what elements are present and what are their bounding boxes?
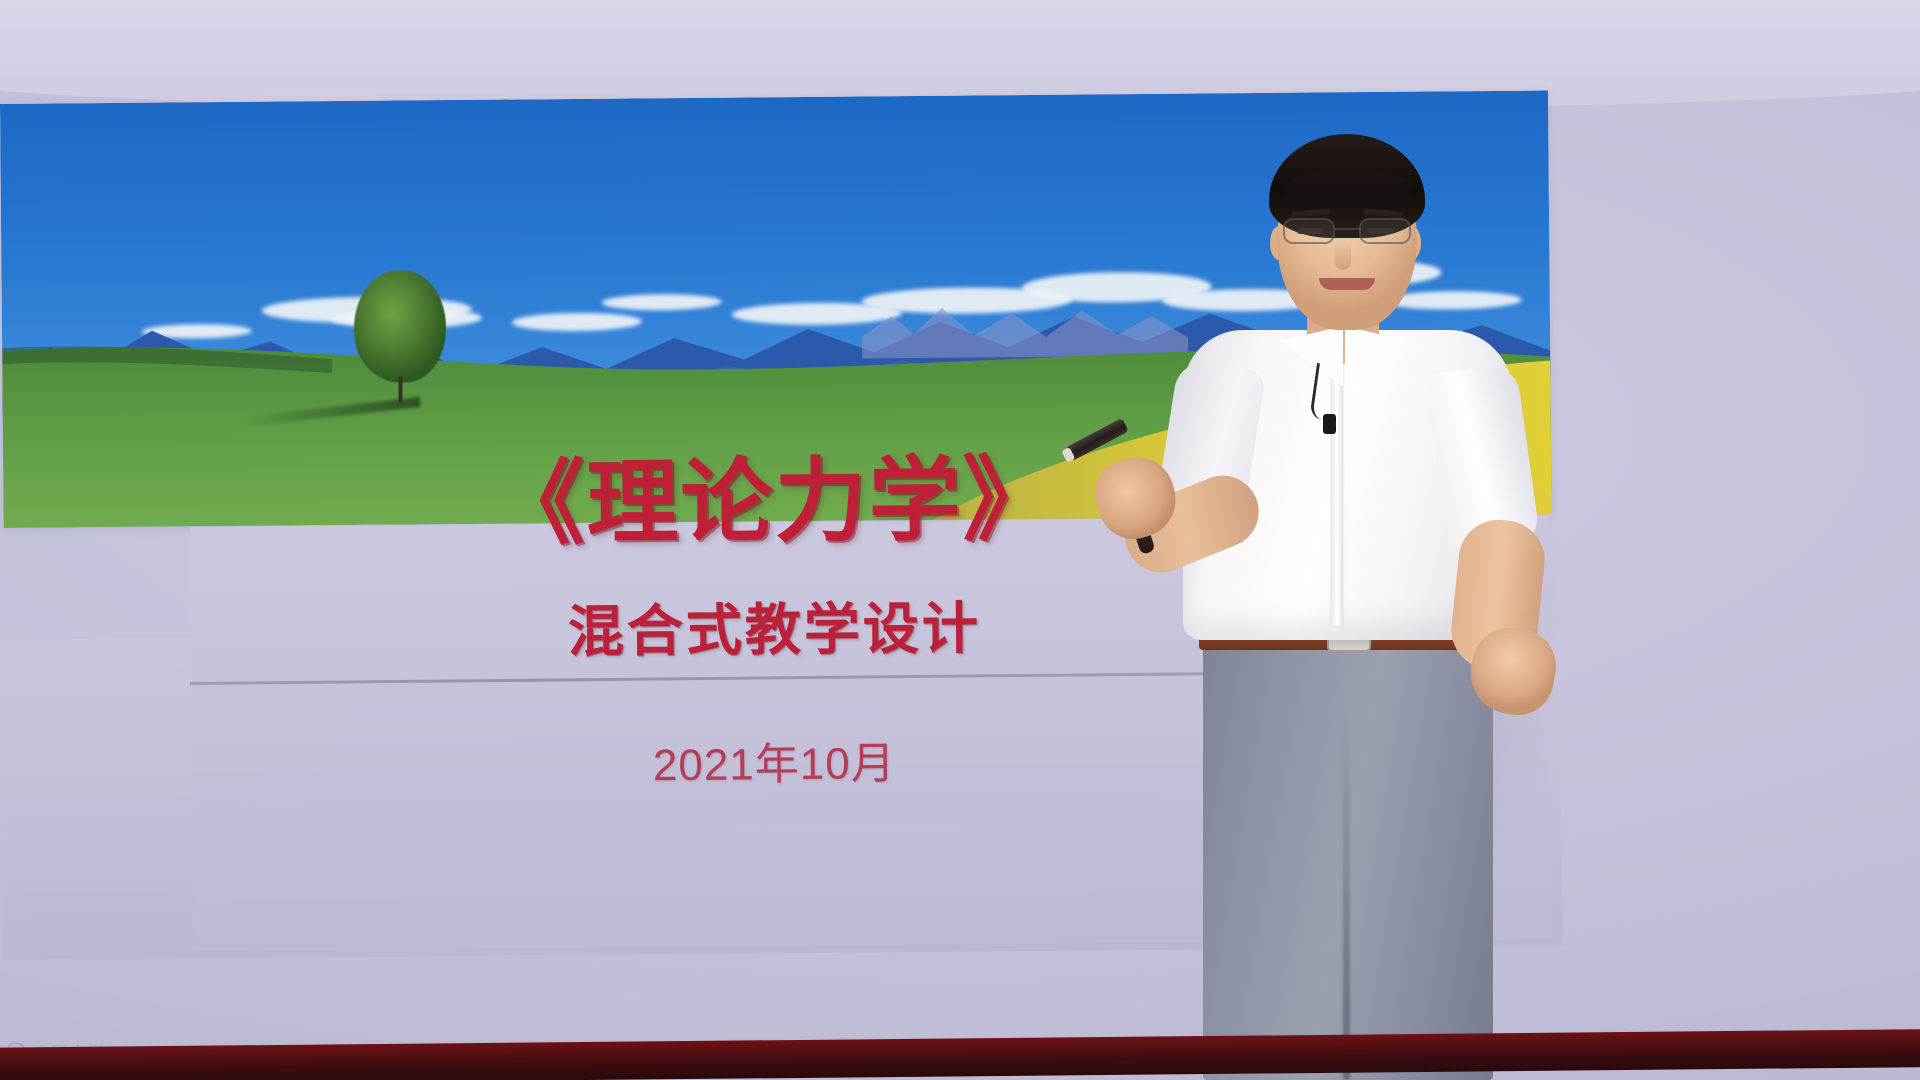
trouser-crease bbox=[1343, 714, 1350, 1080]
mouth bbox=[1319, 278, 1375, 290]
presenter bbox=[1155, 118, 1635, 1080]
nose bbox=[1335, 240, 1351, 270]
watermark-text: 中国大学MOOC bbox=[33, 1039, 162, 1064]
lapel-microphone bbox=[1323, 414, 1336, 434]
shirt-placket bbox=[1331, 354, 1343, 626]
watermark: i 中国大学MOOC bbox=[6, 1039, 162, 1064]
info-circle-icon: i bbox=[6, 1042, 26, 1062]
tree bbox=[353, 270, 446, 403]
video-frame: 《理论力学》 混合式教学设计 2021年10月 bbox=[0, 0, 1920, 1080]
